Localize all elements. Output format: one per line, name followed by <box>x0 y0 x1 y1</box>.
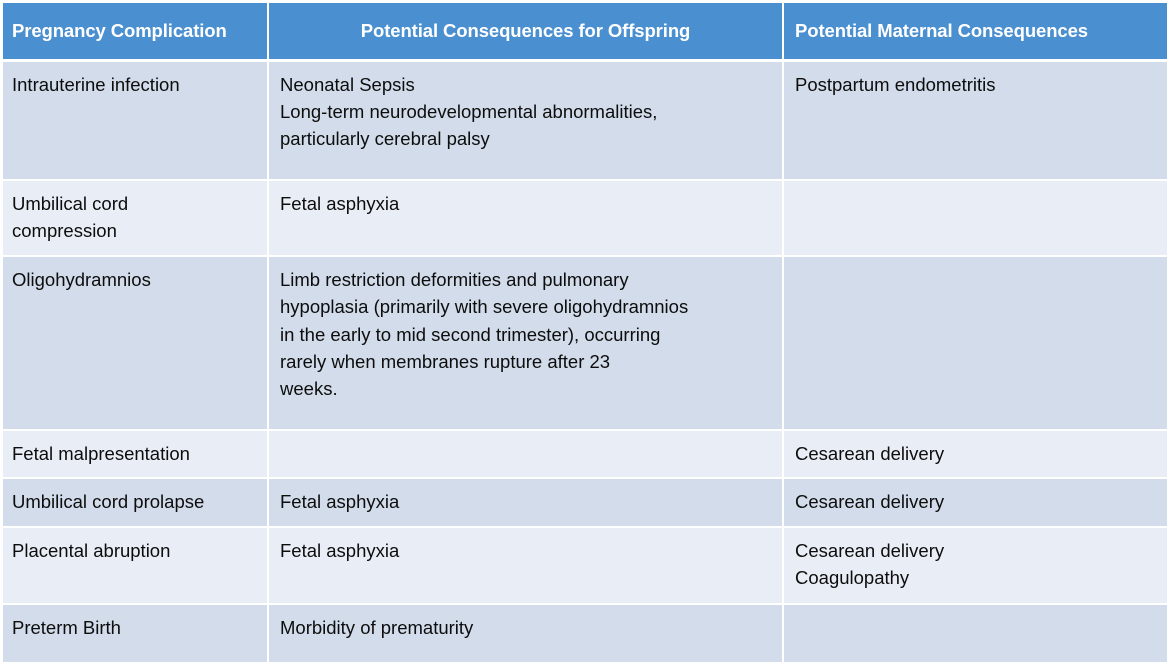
cell-maternal-consequences: Cesarean delivery <box>783 430 1167 478</box>
table-row: Preterm Birth Morbidity of prematurity <box>3 604 1167 662</box>
cell-complication: Preterm Birth <box>3 604 268 662</box>
cell-complication: Oligohydramnios <box>3 256 268 430</box>
table-container: Pregnancy Complication Potential Consequ… <box>0 0 1170 634</box>
cell-maternal-consequences <box>783 180 1167 256</box>
table-row: Oligohydramnios Limb restriction deformi… <box>3 256 1167 430</box>
cell-maternal-consequences: Cesarean delivery <box>783 478 1167 526</box>
table-row: Intrauterine infection Neonatal Sepsis L… <box>3 60 1167 180</box>
cell-offspring-consequences: Fetal asphyxia <box>268 180 783 256</box>
cell-complication: Placental abruption <box>3 527 268 604</box>
column-header-potential-maternal-consequences: Potential Maternal Consequences <box>783 3 1167 60</box>
cell-maternal-consequences: Cesarean delivery Coagulopathy <box>783 527 1167 604</box>
table-row: Umbilical cord compression Fetal asphyxi… <box>3 180 1167 256</box>
cell-offspring-consequences: Limb restriction deformities and pulmona… <box>268 256 783 430</box>
cell-maternal-consequences: Postpartum endometritis <box>783 60 1167 180</box>
cell-complication: Intrauterine infection <box>3 60 268 180</box>
cell-offspring-consequences: Fetal asphyxia <box>268 478 783 526</box>
table-body: Intrauterine infection Neonatal Sepsis L… <box>3 60 1167 662</box>
cell-offspring-consequences <box>268 430 783 478</box>
cell-offspring-consequences: Morbidity of prematurity <box>268 604 783 662</box>
cell-offspring-consequences: Fetal asphyxia <box>268 527 783 604</box>
cell-maternal-consequences <box>783 604 1167 662</box>
cell-complication: Umbilical cord prolapse <box>3 478 268 526</box>
cell-complication: Fetal malpresentation <box>3 430 268 478</box>
cell-complication: Umbilical cord compression <box>3 180 268 256</box>
column-header-pregnancy-complication: Pregnancy Complication <box>3 3 268 60</box>
cell-maternal-consequences <box>783 256 1167 430</box>
table-row: Umbilical cord prolapse Fetal asphyxia C… <box>3 478 1167 526</box>
cell-offspring-consequences: Neonatal Sepsis Long-term neurodevelopme… <box>268 60 783 180</box>
header-row: Pregnancy Complication Potential Consequ… <box>3 3 1167 60</box>
column-header-potential-consequences-for-offspring: Potential Consequences for Offspring <box>268 3 783 60</box>
table-row: Fetal malpresentation Cesarean delivery <box>3 430 1167 478</box>
pregnancy-complications-table: Pregnancy Complication Potential Consequ… <box>3 3 1167 662</box>
table-row: Placental abruption Fetal asphyxia Cesar… <box>3 527 1167 604</box>
table-header: Pregnancy Complication Potential Consequ… <box>3 3 1167 60</box>
